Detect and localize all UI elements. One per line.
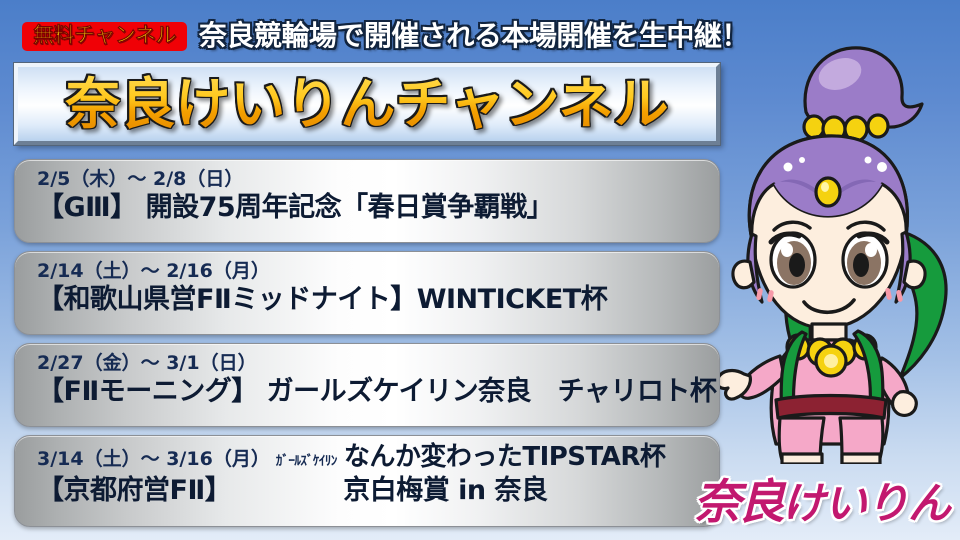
schedule-girls-keirin-label: ｶﾞｰﾙｽﾞｹｲﾘﾝ <box>276 455 337 468</box>
channel-title-text: 奈良けいりんチャンネル <box>59 75 674 134</box>
eye-left <box>771 233 815 287</box>
schedule-title: 【FⅡモーニング】 ガールズケイリン奈良 チャリロト杯 <box>37 376 719 408</box>
schedule-row[interactable]: 2/14（土）～ 2/16（月） 【和歌山県営FⅡミッドナイト】WINTICKE… <box>14 251 720 335</box>
nara-keirin-logo: 奈良けいりん <box>694 479 950 526</box>
schedule-title: 【和歌山県営FⅡミッドナイト】WINTICKET杯 <box>37 284 719 316</box>
schedule-date: 2/14（土）～ 2/16（月） <box>37 260 719 282</box>
hand-right <box>893 392 917 416</box>
schedule-subtitle: 京白梅賞 in 奈良 <box>343 475 547 506</box>
schedule-row[interactable]: 2/27（金）～ 3/1（日） 【FⅡモーニング】 ガールズケイリン奈良 チャリ… <box>14 343 720 427</box>
schedule-grade: 【京都府営FⅡ】 <box>37 475 231 506</box>
promo-banner-root: 無料チャンネル 奈良競輪場で開催される本場開催を生中継！ 奈良けいりんチャンネル… <box>0 0 960 540</box>
forehead-gem <box>816 178 840 206</box>
schedule-date: 2/27（金）～ 3/1（日） <box>37 352 719 374</box>
channel-title-banner: 奈良けいりんチャンネル <box>14 63 720 145</box>
ear-left <box>733 261 754 288</box>
schedule-row[interactable]: 2/5（木）～ 2/8（日） 【GⅢ】 開設75周年記念「春日賞争覇戦」 <box>14 159 720 243</box>
free-channel-badge: 無料チャンネル <box>22 22 187 51</box>
eye-right <box>843 233 887 287</box>
logo-kanji: 奈良 <box>694 475 782 530</box>
belt <box>776 396 886 419</box>
schedule-date: 3/14（土）～ 3/16（月） <box>37 448 270 470</box>
schedule-title: 【GⅢ】 開設75周年記念「春日賞争覇戦」 <box>37 192 719 224</box>
headline-bar: 無料チャンネル 奈良競輪場で開催される本場開催を生中継！ <box>22 16 749 56</box>
logo-kana: けいりん <box>782 479 950 529</box>
schedule-event-name: なんか変わったTIPSTAR杯 <box>344 444 666 470</box>
mascot-illustration <box>700 34 960 464</box>
shoe-right <box>842 454 880 464</box>
schedule-row-line1: 3/14（土）～ 3/16（月） ｶﾞｰﾙｽﾞｹｲﾘﾝ なんか変わったTIPST… <box>37 444 719 470</box>
ear-right <box>904 261 925 288</box>
shoe-left <box>782 454 822 464</box>
schedule-row[interactable]: 3/14（土）～ 3/16（月） ｶﾞｰﾙｽﾞｹｲﾘﾝ なんか変わったTIPST… <box>14 435 720 527</box>
schedule-row-line2: 【京都府営FⅡ】 京白梅賞 in 奈良 <box>37 475 719 506</box>
headline-tagline: 奈良競輪場で開催される本場開催を生中継！ <box>199 22 749 50</box>
schedule-date: 2/5（木）～ 2/8（日） <box>37 168 719 190</box>
